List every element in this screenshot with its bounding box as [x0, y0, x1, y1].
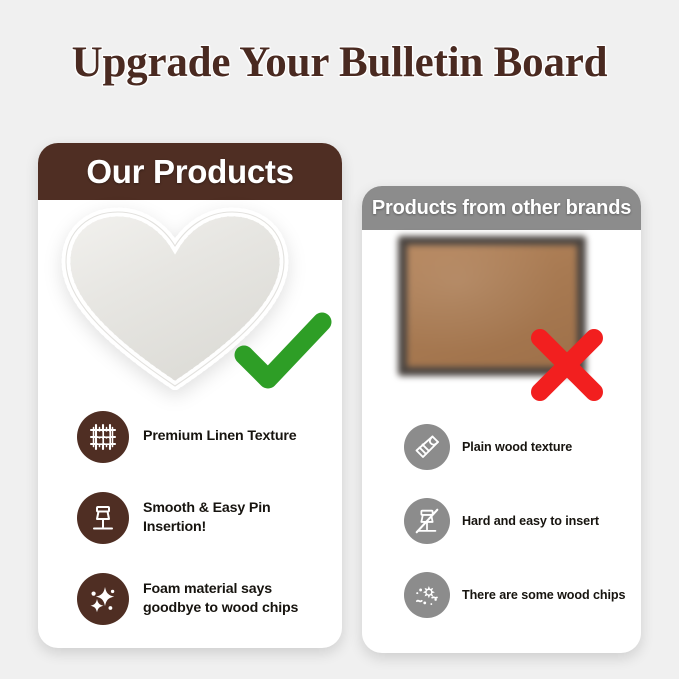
- linen-weave-icon: [77, 411, 129, 463]
- page-title: Upgrade Your Bulletin Board: [0, 38, 679, 87]
- feature-label: Premium Linen Texture: [143, 427, 296, 445]
- our-products-feature-list: Premium Linen Texture Smo: [38, 396, 342, 639]
- infographic-canvas: Upgrade Your Bulletin Board Our Products: [0, 0, 679, 679]
- feature-label: Plain wood texture: [462, 439, 572, 455]
- wood-chips-debris-icon: [404, 572, 450, 618]
- pushpin-icon: [77, 492, 129, 544]
- feature-row: Hard and easy to insert: [362, 484, 641, 558]
- feature-label: Hard and easy to insert: [462, 513, 599, 529]
- pushpin-prohibited-icon: [404, 498, 450, 544]
- our-products-header-label: Our Products: [86, 153, 293, 191]
- feature-row: Plain wood texture: [362, 410, 641, 484]
- feature-label: There are some wood chips: [462, 587, 625, 603]
- feature-row: Foam material says goodbye to wood chips: [38, 558, 342, 639]
- other-brands-header: Products from other brands: [362, 186, 641, 230]
- red-cross-icon: [524, 322, 610, 408]
- other-product-image: [362, 230, 641, 402]
- our-product-image: [38, 200, 342, 392]
- other-brands-card: Products from other brands: [362, 186, 641, 653]
- our-products-header: Our Products: [38, 143, 342, 200]
- feature-row: Premium Linen Texture: [38, 396, 342, 477]
- other-brands-feature-list: Plain wood texture: [362, 410, 641, 632]
- sparkles-icon: [77, 573, 129, 625]
- our-products-card: Our Products: [38, 143, 342, 648]
- feature-label: Foam material says goodbye to wood chips: [143, 580, 328, 616]
- our-products-body: Premium Linen Texture Smo: [38, 200, 342, 648]
- feature-row: Smooth & Easy Pin Insertion!: [38, 477, 342, 558]
- feature-row: There are some wood chips: [362, 558, 641, 632]
- other-brands-body: Plain wood texture: [362, 230, 641, 653]
- green-check-icon: [234, 310, 332, 390]
- wood-log-icon: [404, 424, 450, 470]
- feature-label: Smooth & Easy Pin Insertion!: [143, 499, 328, 535]
- other-brands-header-label: Products from other brands: [372, 197, 631, 220]
